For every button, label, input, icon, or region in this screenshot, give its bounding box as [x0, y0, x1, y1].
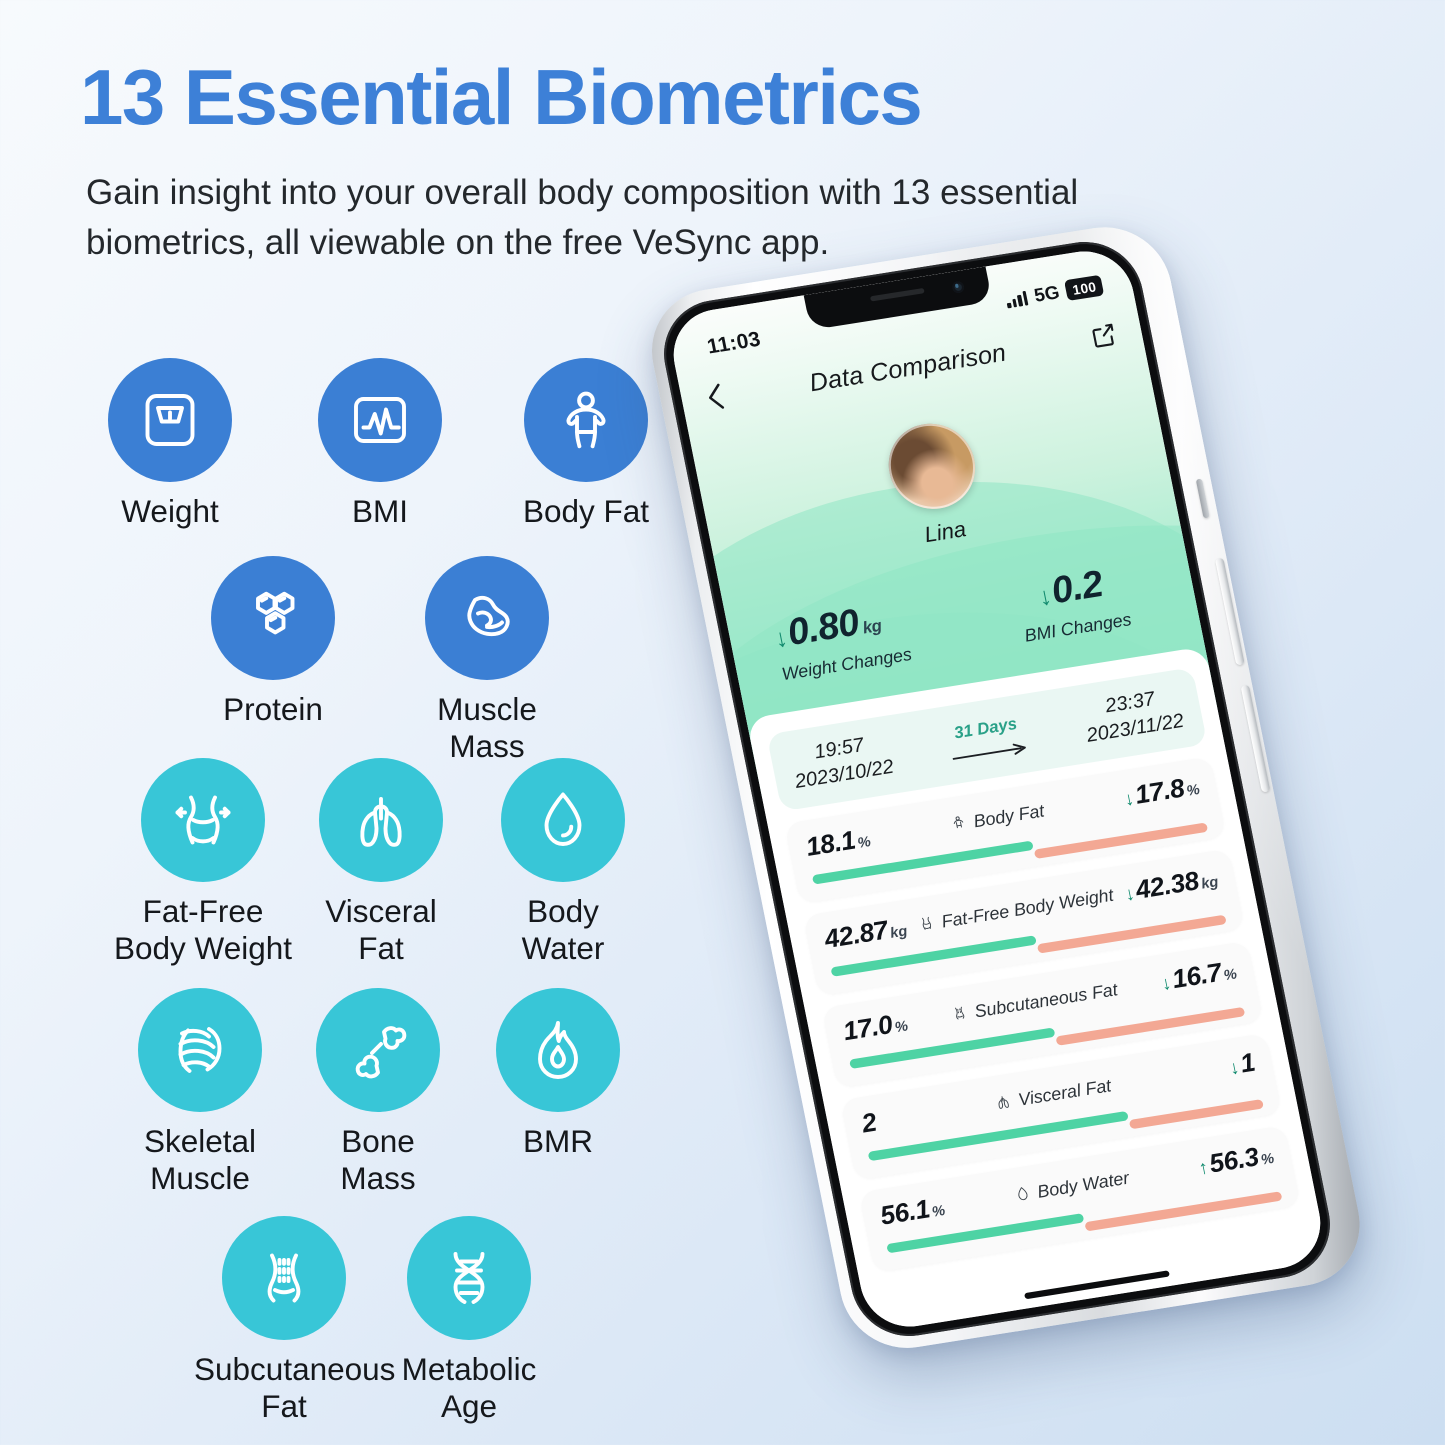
bar-after: [1129, 1099, 1264, 1129]
metric-weight: Weight: [80, 358, 260, 530]
metric-bone-mass: Bone Mass: [288, 988, 468, 1197]
left-unit: %: [930, 1201, 946, 1219]
right-number: 42.38: [1133, 866, 1202, 906]
bone-icon: [316, 988, 440, 1112]
left-unit: kg: [888, 922, 908, 941]
status-clock: 11:03: [705, 327, 763, 359]
waist-icon: [141, 758, 265, 882]
right-unit: kg: [1200, 873, 1220, 892]
back-button[interactable]: [704, 382, 727, 416]
duration-label: 31 Days: [946, 714, 1026, 745]
row-left-value: 42.87kg: [822, 913, 910, 956]
phone-bezel: 11:03 5G 100 Data Compa: [654, 234, 1340, 1344]
metric-label: BMI: [290, 493, 470, 530]
comparison-row-list: 18.1%Body Fat↓17.8%42.87kgFat-Free Body …: [784, 756, 1300, 1272]
change-number: 0.80: [784, 600, 863, 654]
row-metric: Body Water: [1012, 1167, 1131, 1206]
metric-label: Visceral Fat: [291, 893, 471, 967]
row-right-value: ↓16.7%: [1158, 956, 1239, 998]
metric-subcutaneous-fat: Subcutaneous Fat: [194, 1216, 374, 1425]
water-drop-icon: [1012, 1184, 1033, 1204]
front-camera-icon: [951, 281, 965, 294]
row-metric: Body Fat: [948, 800, 1046, 835]
metric-label: Weight: [80, 493, 260, 530]
chevron-left-icon: [704, 382, 726, 411]
page-title: 13 Essential Biometrics: [80, 58, 1160, 136]
metric-muscle-mass: Muscle Mass: [397, 556, 577, 765]
row-right-value: ↓42.38kg: [1122, 863, 1221, 907]
row-metric: Visceral Fat: [993, 1075, 1113, 1114]
row-right-value: ↑56.3%: [1195, 1140, 1276, 1182]
lungs-icon: [993, 1092, 1014, 1112]
phone-screen: 11:03 5G 100 Data Compa: [665, 245, 1329, 1334]
body-figure-icon: [948, 814, 969, 834]
row-metric-label: Visceral Fat: [1016, 1075, 1113, 1110]
metric-label: Bone Mass: [288, 1123, 468, 1197]
share-button[interactable]: [1089, 321, 1120, 355]
row-metric-label: Subcutaneous Fat: [973, 979, 1120, 1022]
range-end: 23:37 2023/11/22: [1080, 684, 1186, 747]
row-right-value: ↓1: [1226, 1048, 1257, 1082]
metric-label: Skeletal Muscle: [110, 1123, 290, 1197]
left-number: 17.0: [841, 1010, 896, 1047]
row-left-value: 2: [859, 1108, 879, 1140]
right-unit: %: [1185, 780, 1201, 798]
avatar[interactable]: [881, 418, 983, 515]
right-number: 16.7: [1170, 958, 1225, 995]
left-unit: %: [856, 833, 872, 851]
row-left-value: 56.1%: [878, 1192, 948, 1232]
bar-after: [1084, 1191, 1282, 1231]
metric-label: Fat-Free Body Weight: [113, 893, 293, 967]
biometrics-icon-grid: WeightBMIBody FatProteinMuscle MassFat-F…: [0, 358, 680, 1418]
change-value: ↓0.2: [1034, 562, 1107, 615]
metric-label: Muscle Mass: [397, 691, 577, 765]
change-unit: kg: [861, 617, 883, 638]
earpiece-speaker: [870, 288, 925, 302]
right-unit: %: [1259, 1149, 1275, 1167]
metric-bmi: BMI: [290, 358, 470, 530]
row-metric-label: Body Fat: [972, 800, 1046, 832]
molecule-icon: [211, 556, 335, 680]
scale-icon: [108, 358, 232, 482]
lungs-icon: [319, 758, 443, 882]
network-label: 5G: [1032, 281, 1061, 306]
row-metric-label: Body Water: [1035, 1167, 1131, 1202]
change-number: 0.2: [1048, 562, 1107, 613]
row-left-value: 17.0%: [841, 1008, 911, 1048]
range-start: 19:57 2023/10/22: [788, 730, 896, 794]
metric-label: Protein: [183, 691, 363, 728]
left-number: 42.87: [822, 916, 891, 956]
long-arrow-right-icon: [951, 740, 1030, 764]
metric-skeletal-muscle: Skeletal Muscle: [110, 988, 290, 1197]
right-unit: %: [1222, 965, 1238, 983]
range-duration: 31 Days: [946, 714, 1030, 765]
row-left-value: 18.1%: [803, 823, 873, 863]
dna-icon: [407, 1216, 531, 1340]
bar-after: [1034, 822, 1209, 859]
cellular-bars-icon: [1005, 289, 1029, 308]
metric-label: Metabolic Age: [379, 1351, 559, 1425]
right-number: 17.8: [1132, 774, 1187, 811]
left-number: 2: [859, 1108, 879, 1140]
row-right-value: ↓17.8%: [1121, 771, 1202, 813]
skin-layer-icon: [222, 1216, 346, 1340]
battery-indicator: 100: [1064, 275, 1104, 301]
bmi-chart-icon: [318, 358, 442, 482]
row-metric-label: Fat-Free Body Weight: [940, 885, 1116, 933]
skin-layer-icon: [949, 1004, 970, 1024]
metric-fat-free-body-weight: Fat-Free Body Weight: [113, 758, 293, 967]
left-unit: %: [893, 1017, 909, 1035]
right-number: 56.3: [1207, 1142, 1262, 1179]
metric-metabolic-age: Metabolic Age: [379, 1216, 559, 1425]
metric-label: Subcutaneous Fat: [194, 1351, 374, 1425]
left-number: 18.1: [803, 826, 858, 863]
waist-icon: [916, 914, 937, 934]
share-icon: [1089, 321, 1119, 350]
flexed-bicep-icon: [425, 556, 549, 680]
left-number: 56.1: [878, 1194, 933, 1231]
phone-mockup: 11:03 5G 100 Data Compa: [596, 214, 1445, 1445]
metric-protein: Protein: [183, 556, 363, 728]
metric-visceral-fat: Visceral Fat: [291, 758, 471, 967]
muscle-fiber-icon: [138, 988, 262, 1112]
row-metric: Subcutaneous Fat: [949, 979, 1119, 1026]
